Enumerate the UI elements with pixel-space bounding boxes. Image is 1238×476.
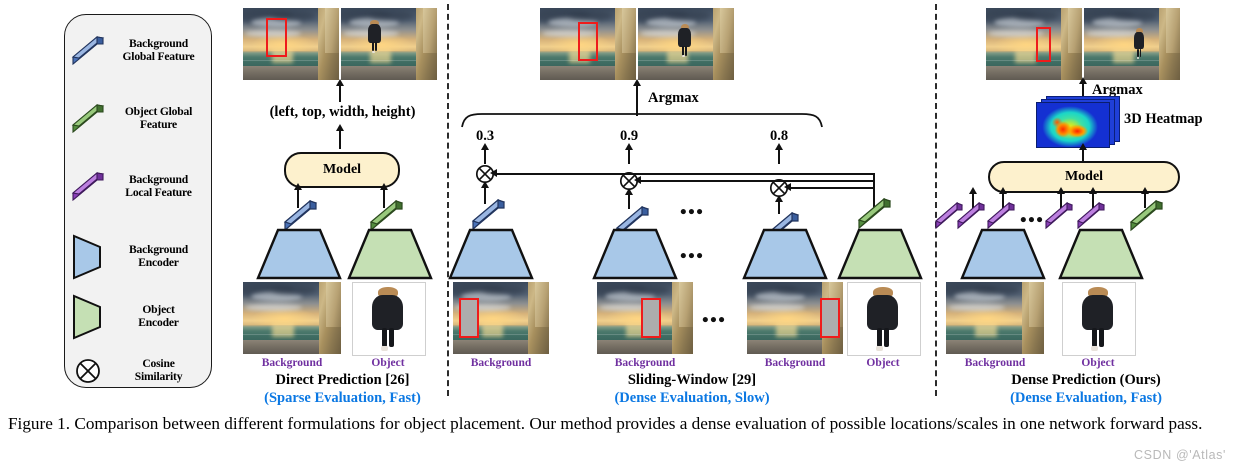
background-encoder-shape-1 <box>446 228 536 285</box>
column-direct-prediction: (left, top, width, height) Model <box>240 0 445 404</box>
object-encoder-shape <box>835 228 925 285</box>
composited-person <box>678 24 690 57</box>
green-feature-bar-icon <box>65 104 111 134</box>
legend-label-line1: Background <box>129 243 188 256</box>
legend-label-line2: Encoder <box>138 316 178 329</box>
input-label-background-3: Background <box>747 357 843 369</box>
route-arrowhead-1 <box>490 169 497 177</box>
object-encoder-shape <box>1056 228 1146 285</box>
result-image-composite <box>638 8 734 80</box>
legend-label: Cosine Similarity <box>111 358 211 383</box>
watermark: CSDN @'Atlas' <box>1134 448 1226 462</box>
background-input-image <box>243 282 341 354</box>
legend-item-object-encoder: Object Encoder <box>65 293 211 341</box>
column-separator-1 <box>447 4 449 396</box>
result-image-box-only <box>243 8 339 80</box>
ellipsis-images: ••• <box>702 310 726 332</box>
input-label-object: Object <box>1062 357 1134 369</box>
input-label-background-1: Background <box>453 357 549 369</box>
background-input-image <box>946 282 1044 354</box>
column-subtitle: (Dense Evaluation, Fast) <box>940 390 1232 407</box>
result-image-box-only <box>986 8 1082 80</box>
legend-label-line2: Feature <box>140 118 177 131</box>
sliding-window-box <box>820 298 840 338</box>
legend-label-line2: Local Feature <box>125 186 191 199</box>
model-box: Model <box>988 161 1180 193</box>
column-separator-2 <box>935 4 937 396</box>
composited-person <box>1134 28 1145 58</box>
route-arrowhead-3 <box>784 183 791 191</box>
column-dense-prediction: Argmax 3D Heatmap Model <box>940 0 1232 404</box>
route-line-3 <box>790 187 874 189</box>
arrow-model-out <box>339 131 341 149</box>
legend-label: Object Encoder <box>111 304 211 329</box>
figure-caption: Figure 1. Comparison between different f… <box>8 412 1230 435</box>
figure-canvas: Background Global Feature Object Global … <box>0 0 1238 404</box>
object-encoder-icon <box>65 294 111 340</box>
column-title: Dense Prediction (Ours) <box>940 372 1232 389</box>
input-label-object: Object <box>352 357 424 369</box>
object-input-image <box>1062 282 1136 356</box>
sliding-window-box <box>641 298 661 338</box>
sliding-window-box <box>459 298 479 338</box>
selected-bbox <box>1036 27 1052 63</box>
legend-item-object-global-feature: Object Global Feature <box>65 97 211 141</box>
background-encoder-shape <box>958 228 1048 285</box>
legend-item-background-local-feature: Background Local Feature <box>65 165 211 209</box>
background-input-image-3 <box>747 282 843 354</box>
predicted-bbox <box>266 18 287 57</box>
result-image-composite <box>341 8 437 80</box>
legend-label-line2: Encoder <box>138 256 178 269</box>
route-arrowhead-2 <box>634 176 641 184</box>
route-line-1 <box>496 173 874 175</box>
cosine-similarity-icon <box>65 356 111 386</box>
arrow-score-1 <box>484 150 486 164</box>
legend-label: Background Local Feature <box>111 174 211 199</box>
arrow-result <box>339 86 341 102</box>
legend-label-line2: Similarity <box>135 370 183 383</box>
input-label-background-2: Background <box>597 357 693 369</box>
column-subtitle: (Sparse Evaluation, Fast) <box>240 390 445 407</box>
legend-label-line1: Object <box>142 303 174 316</box>
argmax-label: Argmax <box>648 90 748 107</box>
background-input-image-1 <box>453 282 549 354</box>
input-label-background: Background <box>243 357 341 369</box>
object-person <box>372 287 404 350</box>
score-brace <box>460 112 824 128</box>
legend-item-cosine-similarity: Cosine Similarity <box>65 351 211 391</box>
legend-panel: Background Global Feature Object Global … <box>64 14 212 388</box>
legend-item-background-encoder: Background Encoder <box>65 233 211 281</box>
legend-item-background-global-feature: Background Global Feature <box>65 29 211 73</box>
bbox-output-label: (left, top, width, height) <box>240 104 445 121</box>
background-encoder-shape-2 <box>590 228 680 285</box>
column-title: Sliding-Window [29] <box>452 372 932 389</box>
background-encoder-icon <box>65 234 111 280</box>
object-input-image <box>352 282 426 356</box>
result-image-box-only <box>540 8 636 80</box>
result-image-composite <box>1084 8 1180 80</box>
background-encoder-shape-3 <box>740 228 830 285</box>
purple-feature-bar-icon <box>65 172 111 202</box>
blue-feature-bar-icon <box>65 36 111 66</box>
background-input-image-2 <box>597 282 693 354</box>
input-label-background: Background <box>946 357 1044 369</box>
ellipsis-features: ••• <box>680 202 704 224</box>
selected-bbox <box>578 22 597 61</box>
heatmap-label: 3D Heatmap <box>1124 111 1234 128</box>
column-subtitle: (Dense Evaluation, Slow) <box>452 390 932 407</box>
object-input-image <box>847 282 921 356</box>
legend-label-line1: Background <box>129 173 188 186</box>
arrow-score-3 <box>778 150 780 164</box>
legend-label: Background Global Feature <box>111 38 211 63</box>
legend-label-line1: Cosine <box>142 357 174 370</box>
legend-label: Background Encoder <box>111 244 211 269</box>
legend-label-line1: Object Global <box>125 105 192 118</box>
legend-label: Object Global Feature <box>111 106 211 131</box>
object-person <box>867 287 899 350</box>
column-sliding-window: Argmax 0.3 0.9 0.8 <box>452 0 932 404</box>
ellipsis-encoders: ••• <box>680 246 704 268</box>
composited-person <box>368 20 381 53</box>
legend-label-line2: Global Feature <box>122 50 194 63</box>
object-encoder-shape <box>345 228 435 285</box>
route-line-2 <box>640 180 874 182</box>
background-encoder-shape <box>254 228 344 285</box>
heatmap-3d <box>1036 96 1118 146</box>
object-person <box>1082 287 1114 350</box>
legend-label-line1: Background <box>129 37 188 50</box>
arrow-score-2 <box>628 150 630 164</box>
input-label-object: Object <box>847 357 919 369</box>
column-title: Direct Prediction [26] <box>240 372 445 389</box>
